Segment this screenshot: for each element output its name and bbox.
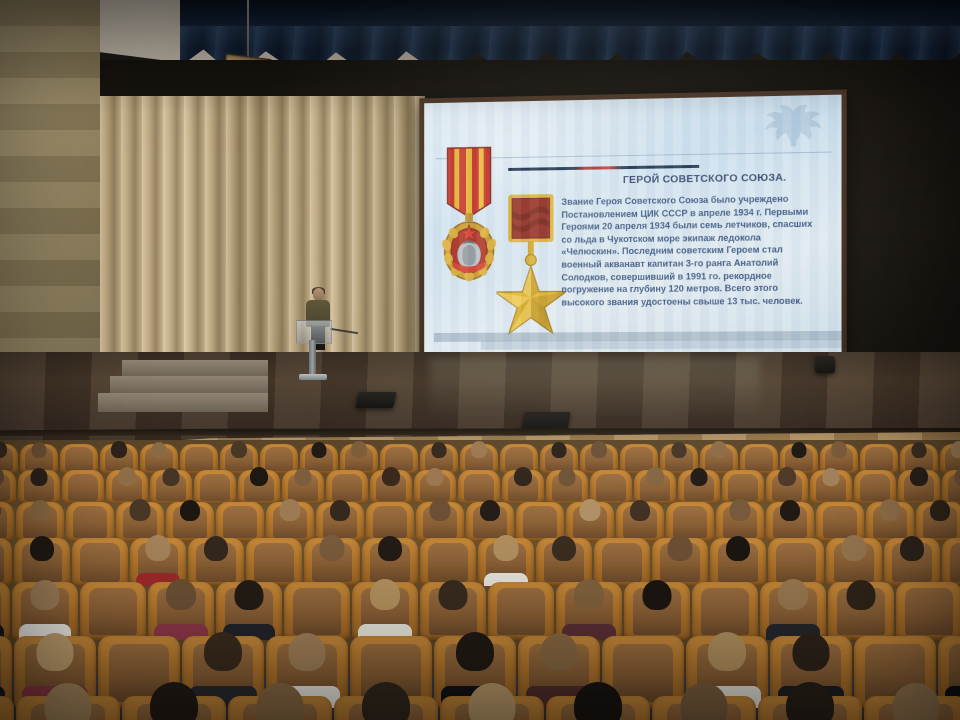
- double-headed-eagle-icon: [754, 101, 834, 153]
- stage-stairs-left: [98, 360, 268, 436]
- projection-screen: ГЕРОЙ СОВЕТСКОГО СОЮЗА. Звание Героя Сов…: [424, 95, 841, 356]
- slide-accent-bar: [508, 165, 699, 171]
- stage-light-fixture: [815, 356, 835, 373]
- projection-screen-frame: ГЕРОЙ СОВЕТСКОГО СОЮЗА. Звание Героя Сов…: [419, 89, 846, 360]
- seat-row: [0, 470, 960, 504]
- glass-podium: [296, 320, 330, 382]
- gold-star-medal-icon: [496, 188, 565, 338]
- stage-monitor-speaker: [355, 392, 396, 408]
- order-of-lenin-icon: [438, 145, 501, 294]
- audience-seating-area: [0, 440, 960, 720]
- curtain-valance: [180, 0, 960, 26]
- auditorium-photo: ГЕРОЙ СОВЕТСКОГО СОЮЗА. Звание Героя Сов…: [0, 0, 960, 720]
- podium-base: [299, 374, 327, 380]
- podium-stem: [309, 340, 316, 376]
- seat-row: [0, 538, 960, 586]
- slide-title: ГЕРОЙ СОВЕТСКОГО СОЮЗА.: [569, 172, 841, 187]
- speaker-suspension-wire: [247, 0, 249, 58]
- slide-footer-bar-secondary: [481, 339, 842, 350]
- slide-body-line: высокого звания удостоены свыше 13 тыс. …: [561, 294, 841, 309]
- seat-row: [0, 696, 960, 720]
- slide-body-text: Звание Героя Советского Союза было учреж…: [561, 192, 841, 309]
- seat-row: [0, 502, 960, 542]
- stage-floor-reflection: [430, 358, 760, 420]
- beige-curtain-left: [100, 96, 425, 368]
